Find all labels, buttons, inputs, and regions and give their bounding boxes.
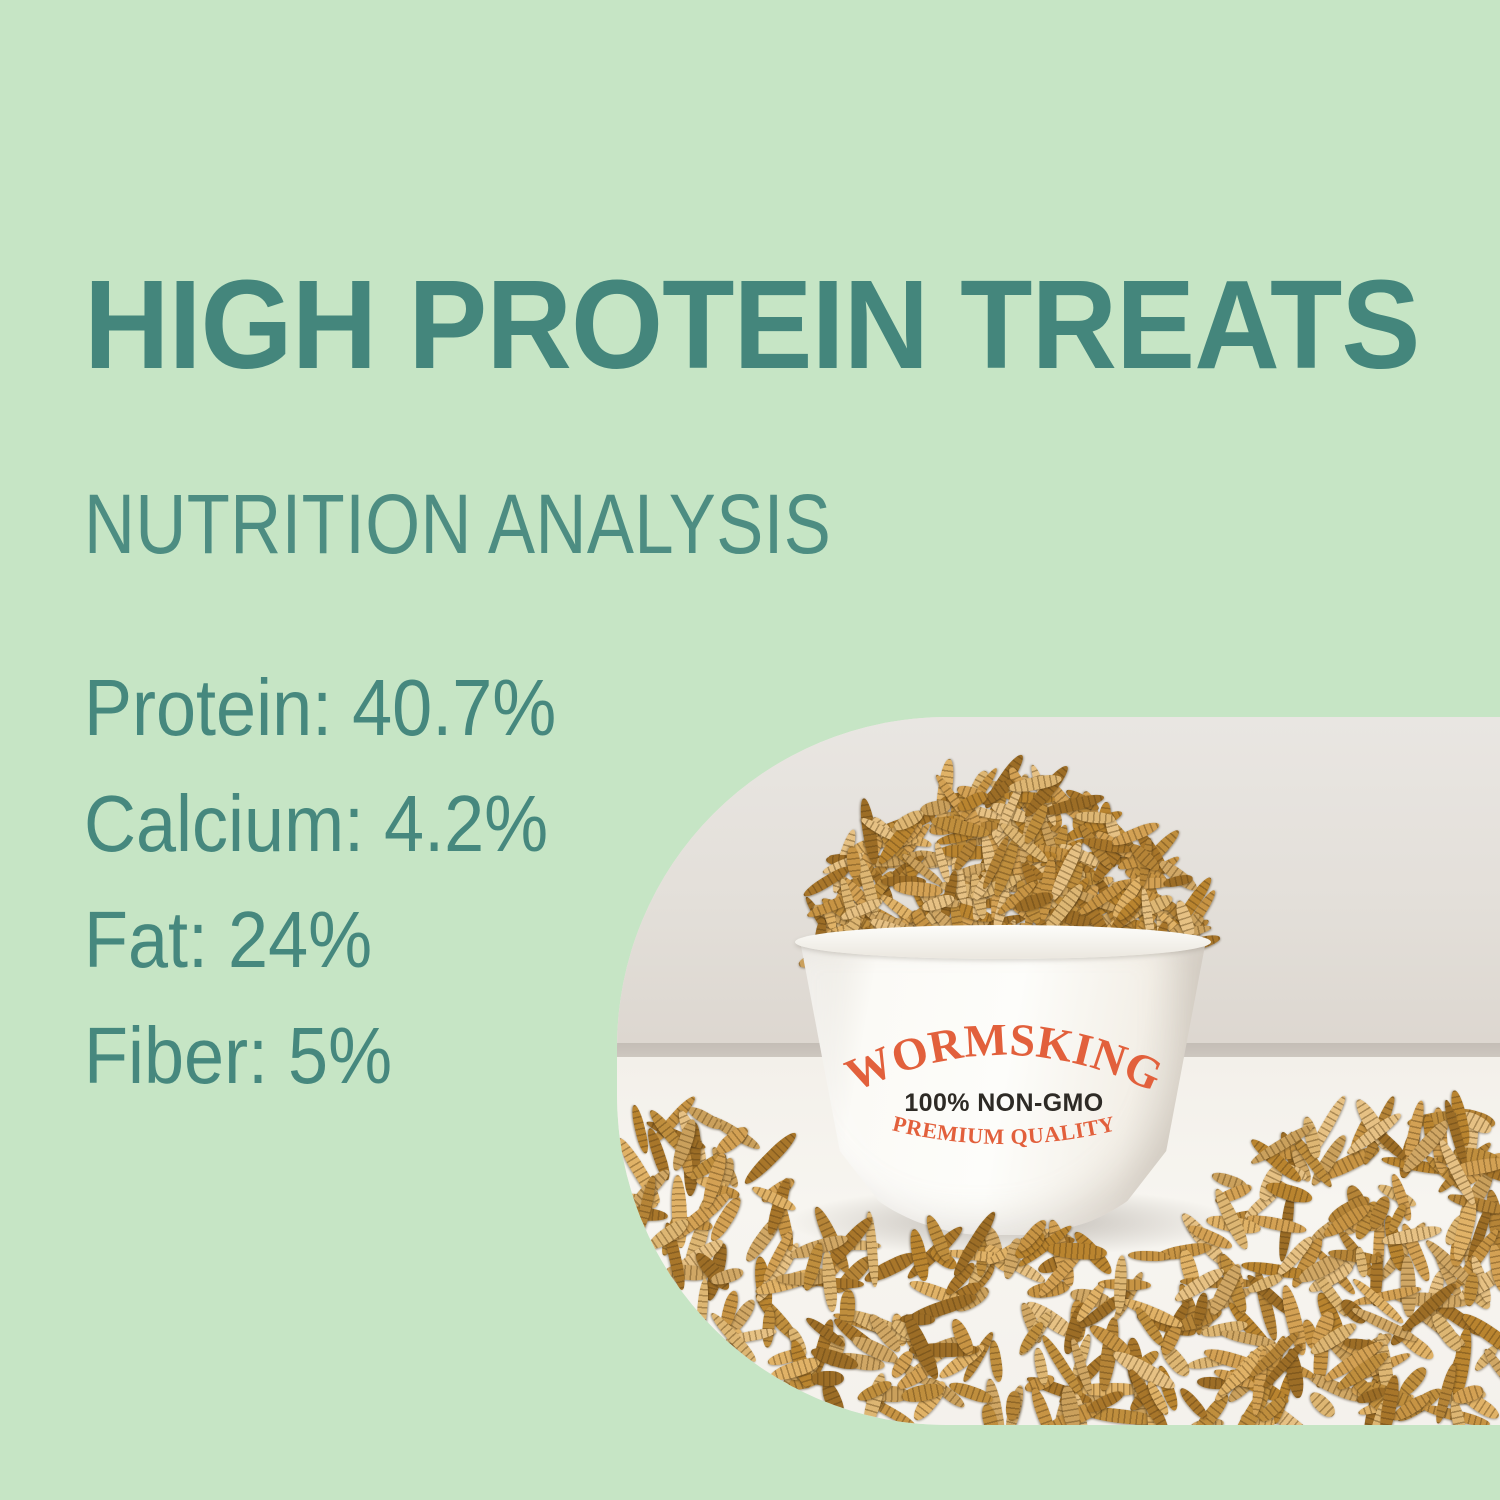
larvae-heap <box>793 745 1217 955</box>
bowl-brand-logo: WORMSKING 100% NON-GMO PREMIUM QUALITY <box>839 1025 1169 1153</box>
product-photo: WORMSKING 100% NON-GMO PREMIUM QUALITY <box>617 717 1500 1425</box>
list-item: Protein: 40.7% <box>84 668 588 748</box>
page-subtitle: NUTRITION ANALYSIS <box>84 482 831 566</box>
list-item: Calcium: 4.2% <box>84 784 588 864</box>
nutrition-item-fiber: Fiber: 5% <box>84 1011 392 1100</box>
svg-text:PREMIUM QUALITY: PREMIUM QUALITY <box>890 1114 1117 1149</box>
larva <box>1353 1246 1368 1278</box>
list-item: Fat: 24% <box>84 900 588 980</box>
larvae-scatter <box>617 1117 1500 1425</box>
larva <box>776 1272 829 1284</box>
nutrition-infographic: HIGH PROTEIN TREATS NUTRITION ANALYSIS P… <box>0 0 1500 1500</box>
svg-text:WORMSKING: WORMSKING <box>839 1025 1169 1099</box>
nutrition-item-calcium: Calcium: 4.2% <box>84 779 548 868</box>
larva <box>988 1339 1005 1383</box>
nutrition-analysis-list: Protein: 40.7% Calcium: 4.2% Fat: 24% Fi… <box>84 668 644 1132</box>
brand-name-text: WORMSKING <box>839 1025 1169 1099</box>
larva <box>1176 1385 1210 1422</box>
page-title: HIGH PROTEIN TREATS <box>84 262 1381 388</box>
product-photo-scene: WORMSKING 100% NON-GMO PREMIUM QUALITY <box>617 717 1500 1425</box>
bowl-rim <box>795 925 1211 959</box>
brand-name-arc: WORMSKING <box>839 1025 1169 1099</box>
brand-quality-text: PREMIUM QUALITY <box>890 1114 1117 1149</box>
nutrition-item-fat: Fat: 24% <box>84 895 372 984</box>
nutrition-item-protein: Protein: 40.7% <box>84 663 556 752</box>
list-item: Fiber: 5% <box>84 1016 588 1096</box>
larva <box>761 1307 776 1349</box>
brand-quality-arc: PREMIUM QUALITY <box>839 1114 1169 1154</box>
